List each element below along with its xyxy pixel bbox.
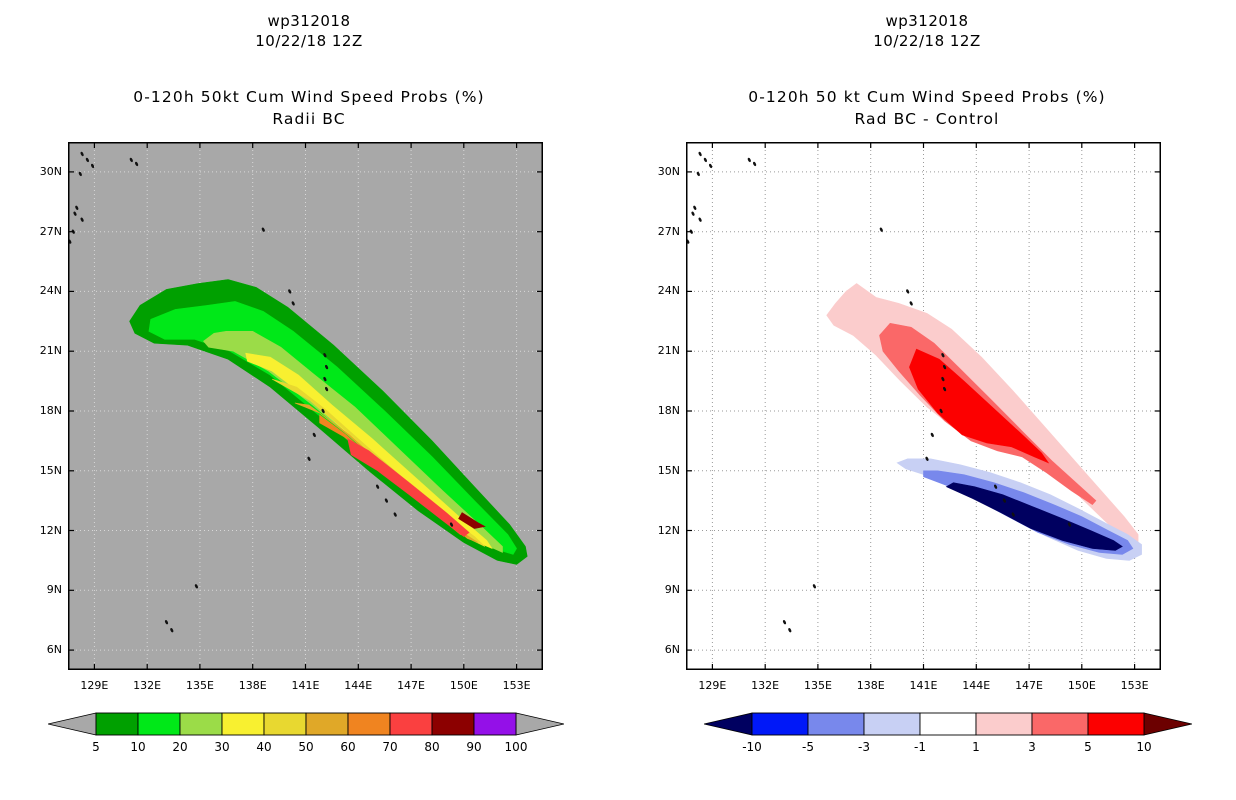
colorbar-band-6: [348, 713, 390, 735]
panel-left-title: 0-120h 50kt Cum Wind Speed Probs (%): [0, 88, 618, 106]
colorbar-cap-left: [704, 713, 752, 735]
panel-right-datetime: 10/22/18 12Z: [618, 32, 1236, 50]
x-tick-label-left: 132E: [125, 679, 169, 692]
y-tick-label-right: 18N: [644, 404, 680, 417]
colorbar-tick-label: 70: [366, 740, 414, 754]
colorbar-tick-label: 50: [282, 740, 330, 754]
y-tick-label-right: 30N: [644, 165, 680, 178]
colorbar-tick-label: -5: [784, 740, 832, 754]
panel-right-title: 0-120h 50 kt Cum Wind Speed Probs (%): [618, 88, 1236, 106]
colorbar-band-1: [808, 713, 864, 735]
x-tick-label-left: 129E: [72, 679, 116, 692]
colorbar-cap-left: [48, 713, 96, 735]
x-tick-label-left: 141E: [284, 679, 328, 692]
colorbar-cap-right: [516, 713, 564, 735]
colorbar-band-0: [96, 713, 138, 735]
colorbar-tick-label: 10: [1120, 740, 1168, 754]
y-tick-label-left: 15N: [26, 464, 62, 477]
panel-rad-bc-minus-control: wp312018 10/22/18 12Z 0-120h 50 kt Cum W…: [618, 0, 1236, 800]
y-tick-label-right: 21N: [644, 344, 680, 357]
colorbar-tick-label: 1: [952, 740, 1000, 754]
panel-left-datetime: 10/22/18 12Z: [0, 32, 618, 50]
x-tick-label-right: 138E: [849, 679, 893, 692]
y-tick-label-left: 9N: [26, 583, 62, 596]
x-tick-label-left: 138E: [231, 679, 275, 692]
colorbar-tick-label: 40: [240, 740, 288, 754]
map-canvas: [686, 142, 1161, 670]
colorbar-tick-label: 80: [408, 740, 456, 754]
colorbar-tick-label: 10: [114, 740, 162, 754]
colorbar-tick-label: 5: [1064, 740, 1112, 754]
x-tick-label-right: 147E: [1007, 679, 1051, 692]
x-tick-label-left: 147E: [389, 679, 433, 692]
colorbar-tick-label: -3: [840, 740, 888, 754]
colorbar-tick-label: -1: [896, 740, 944, 754]
colorbar-band-3: [920, 713, 976, 735]
y-tick-label-right: 12N: [644, 524, 680, 537]
x-tick-label-left: 144E: [336, 679, 380, 692]
colorbar-tick-label: 30: [198, 740, 246, 754]
y-tick-label-left: 30N: [26, 165, 62, 178]
figure-root: wp312018 10/22/18 12Z 0-120h 50kt Cum Wi…: [0, 0, 1236, 800]
x-tick-label-right: 153E: [1113, 679, 1157, 692]
x-tick-label-right: 144E: [954, 679, 998, 692]
colorbar-band-0: [752, 713, 808, 735]
x-tick-label-right: 150E: [1060, 679, 1104, 692]
x-tick-label-right: 129E: [690, 679, 734, 692]
y-tick-label-right: 24N: [644, 284, 680, 297]
colorbar-band-1: [138, 713, 180, 735]
colorbar-probability: 5102030405060708090100: [48, 712, 564, 762]
colorbar-tick-label: 20: [156, 740, 204, 754]
colorbar-difference: -10-5-3-113510: [704, 712, 1192, 762]
x-tick-label-left: 150E: [442, 679, 486, 692]
x-tick-label-right: 135E: [796, 679, 840, 692]
panel-left-storm-id: wp312018: [0, 12, 618, 30]
colorbar-band-9: [474, 713, 516, 735]
colorbar-tick-label: 90: [450, 740, 498, 754]
y-tick-label-left: 18N: [26, 404, 62, 417]
colorbar-band-2: [180, 713, 222, 735]
panel-right-subtitle: Rad BC - Control: [618, 110, 1236, 128]
colorbar-band-5: [306, 713, 348, 735]
colorbar-band-4: [976, 713, 1032, 735]
panel-left-subtitle: Radii BC: [0, 110, 618, 128]
colorbar-band-6: [1088, 713, 1144, 735]
map-canvas: [68, 142, 543, 670]
x-tick-label-right: 132E: [743, 679, 787, 692]
colorbar-band-4: [264, 713, 306, 735]
colorbar-swatches: [704, 712, 1192, 736]
y-tick-label-left: 12N: [26, 524, 62, 537]
y-tick-label-left: 6N: [26, 643, 62, 656]
y-tick-label-left: 24N: [26, 284, 62, 297]
colorbar-band-2: [864, 713, 920, 735]
y-tick-label-right: 9N: [644, 583, 680, 596]
colorbar-tick-label: 100: [492, 740, 540, 754]
colorbar-tick-label: 3: [1008, 740, 1056, 754]
panel-right-storm-id: wp312018: [618, 12, 1236, 30]
colorbar-band-8: [432, 713, 474, 735]
y-tick-label-right: 15N: [644, 464, 680, 477]
x-tick-label-left: 153E: [495, 679, 539, 692]
y-tick-label-right: 27N: [644, 225, 680, 238]
y-tick-label-right: 6N: [644, 643, 680, 656]
colorbar-band-5: [1032, 713, 1088, 735]
map-plot-radii-bc: [68, 142, 543, 670]
colorbar-cap-right: [1144, 713, 1192, 735]
colorbar-tick-label: 5: [72, 740, 120, 754]
map-plot-difference: [686, 142, 1161, 670]
colorbar-swatches: [48, 712, 564, 736]
x-tick-label-left: 135E: [178, 679, 222, 692]
colorbar-tick-label: -10: [728, 740, 776, 754]
x-tick-label-right: 141E: [902, 679, 946, 692]
colorbar-band-3: [222, 713, 264, 735]
colorbar-tick-label: 60: [324, 740, 372, 754]
colorbar-band-7: [390, 713, 432, 735]
y-tick-label-left: 27N: [26, 225, 62, 238]
y-tick-label-left: 21N: [26, 344, 62, 357]
panel-radii-bc: wp312018 10/22/18 12Z 0-120h 50kt Cum Wi…: [0, 0, 618, 800]
